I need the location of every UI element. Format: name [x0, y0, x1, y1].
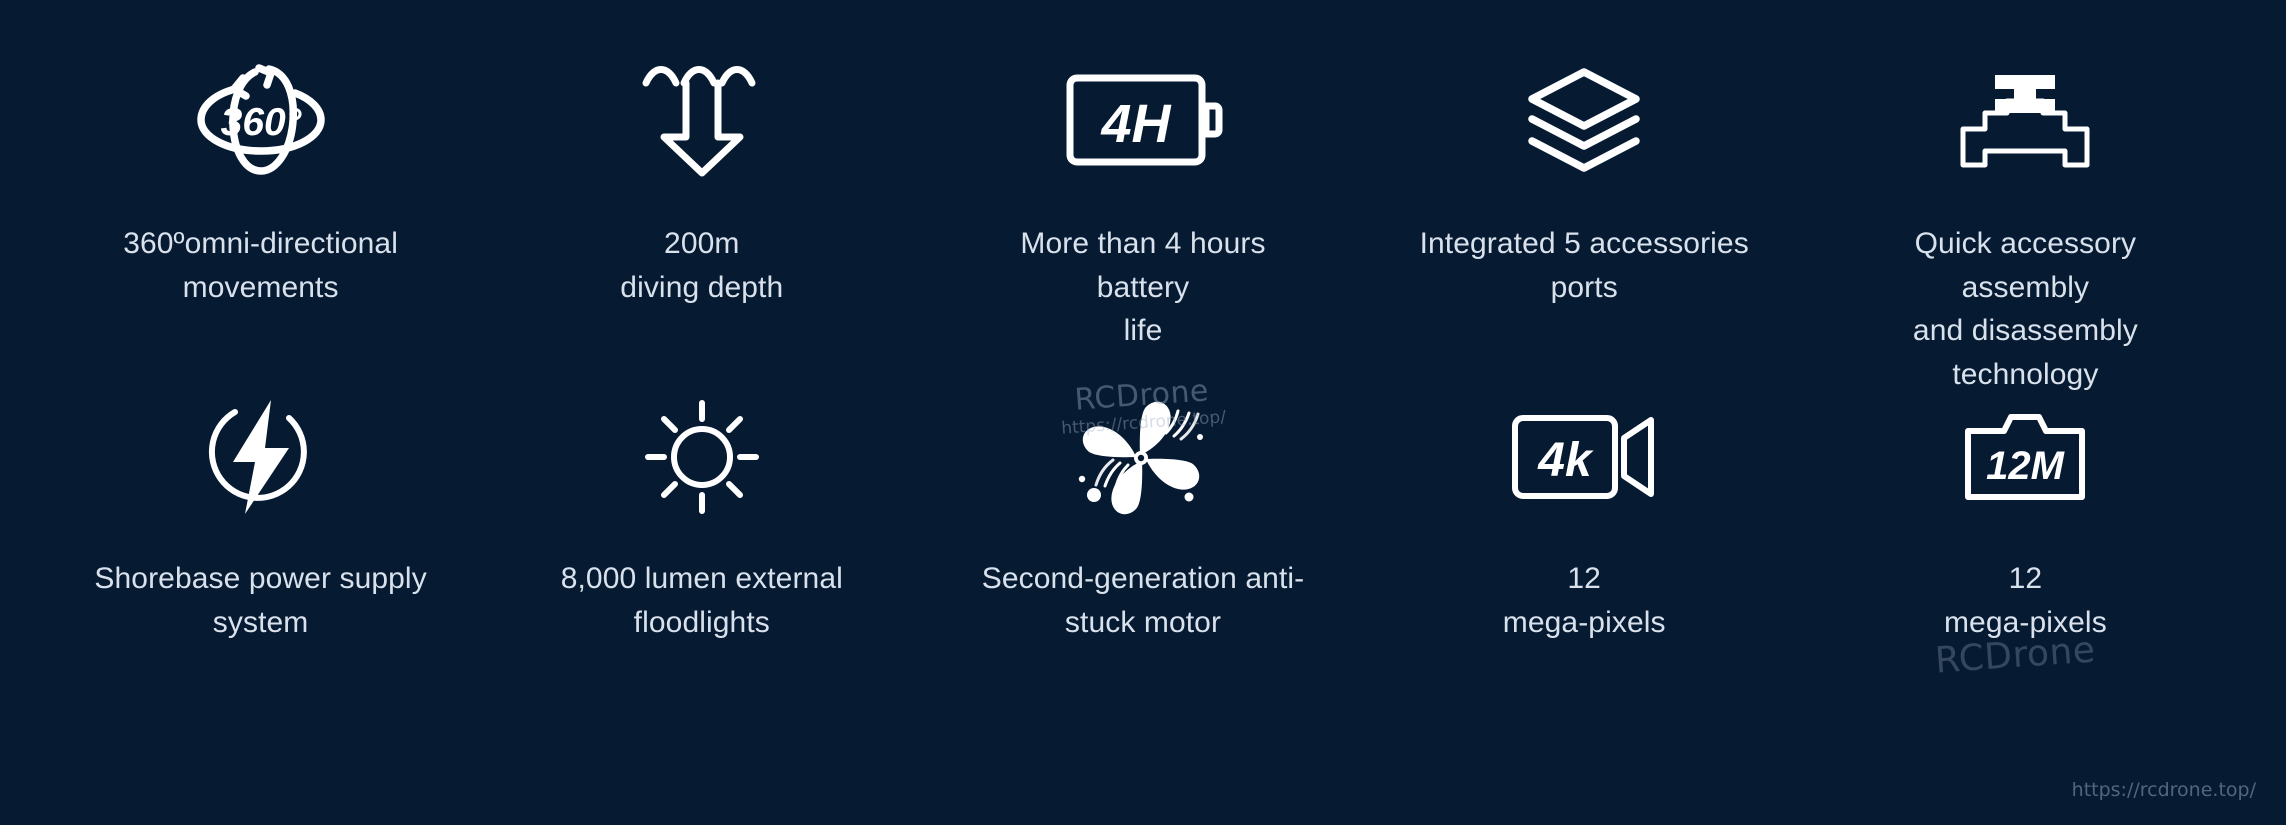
battery-icon: 4H: [1065, 60, 1221, 180]
photo-camera-icon: 12M: [1964, 397, 2086, 517]
propeller-icon: [1078, 397, 1208, 517]
feature-item-anti-stuck-motor: Second-generation anti- stuck motor: [922, 397, 1363, 825]
video-badge-text: 4k: [1537, 434, 1594, 487]
feature-item-battery-life: 4H More than 4 hours battery life: [922, 60, 1363, 397]
feature-item-uhd-video: 4k 12 mega-pixels: [1364, 397, 1805, 825]
feature-label: Second-generation anti- stuck motor: [982, 557, 1305, 644]
lightning-bolt-circle-icon: [205, 397, 317, 517]
dive-depth-arrow-icon: [640, 60, 764, 180]
video-camera-icon: 4k: [1511, 397, 1657, 517]
battery-badge-text: 4H: [1100, 94, 1171, 154]
feature-label: 8,000 lumen external floodlights: [561, 557, 843, 644]
feature-label: Integrated 5 accessories ports: [1420, 222, 1749, 309]
feature-item-omni-directional: 360° 360ºomni-directional movements: [40, 60, 481, 397]
feature-grid: 360° 360ºomni-directional movements 200m…: [0, 0, 2286, 825]
mounting-bracket-icon: [1959, 60, 2091, 180]
feature-item-quick-assembly: Quick accessory assembly and disassembly…: [1805, 60, 2246, 397]
feature-label: 12 mega-pixels: [1944, 557, 2107, 644]
sun-icon: [644, 397, 760, 517]
feature-label: 360ºomni-directional movements: [123, 222, 398, 309]
feature-label: Shorebase power supply system: [94, 557, 426, 644]
feature-item-floodlights: 8,000 lumen external floodlights: [481, 397, 922, 825]
layers-stack-icon: [1526, 60, 1642, 180]
feature-item-mega-pixels: 12M 12 mega-pixels: [1805, 397, 2246, 825]
feature-label: 200m diving depth: [620, 222, 783, 309]
360-rotation-icon: 360°: [191, 60, 331, 180]
360-badge-text: 360°: [220, 101, 301, 144]
camera-badge-text: 12M: [1986, 444, 2065, 488]
feature-item-shorebase-power: Shorebase power supply system: [40, 397, 481, 825]
feature-item-accessory-ports: Integrated 5 accessories ports: [1364, 60, 1805, 397]
feature-item-diving-depth: 200m diving depth: [481, 60, 922, 397]
feature-label: Quick accessory assembly and disassembly…: [1855, 222, 2195, 396]
feature-label: More than 4 hours battery life: [973, 222, 1313, 353]
feature-label: 12 mega-pixels: [1503, 557, 1666, 644]
